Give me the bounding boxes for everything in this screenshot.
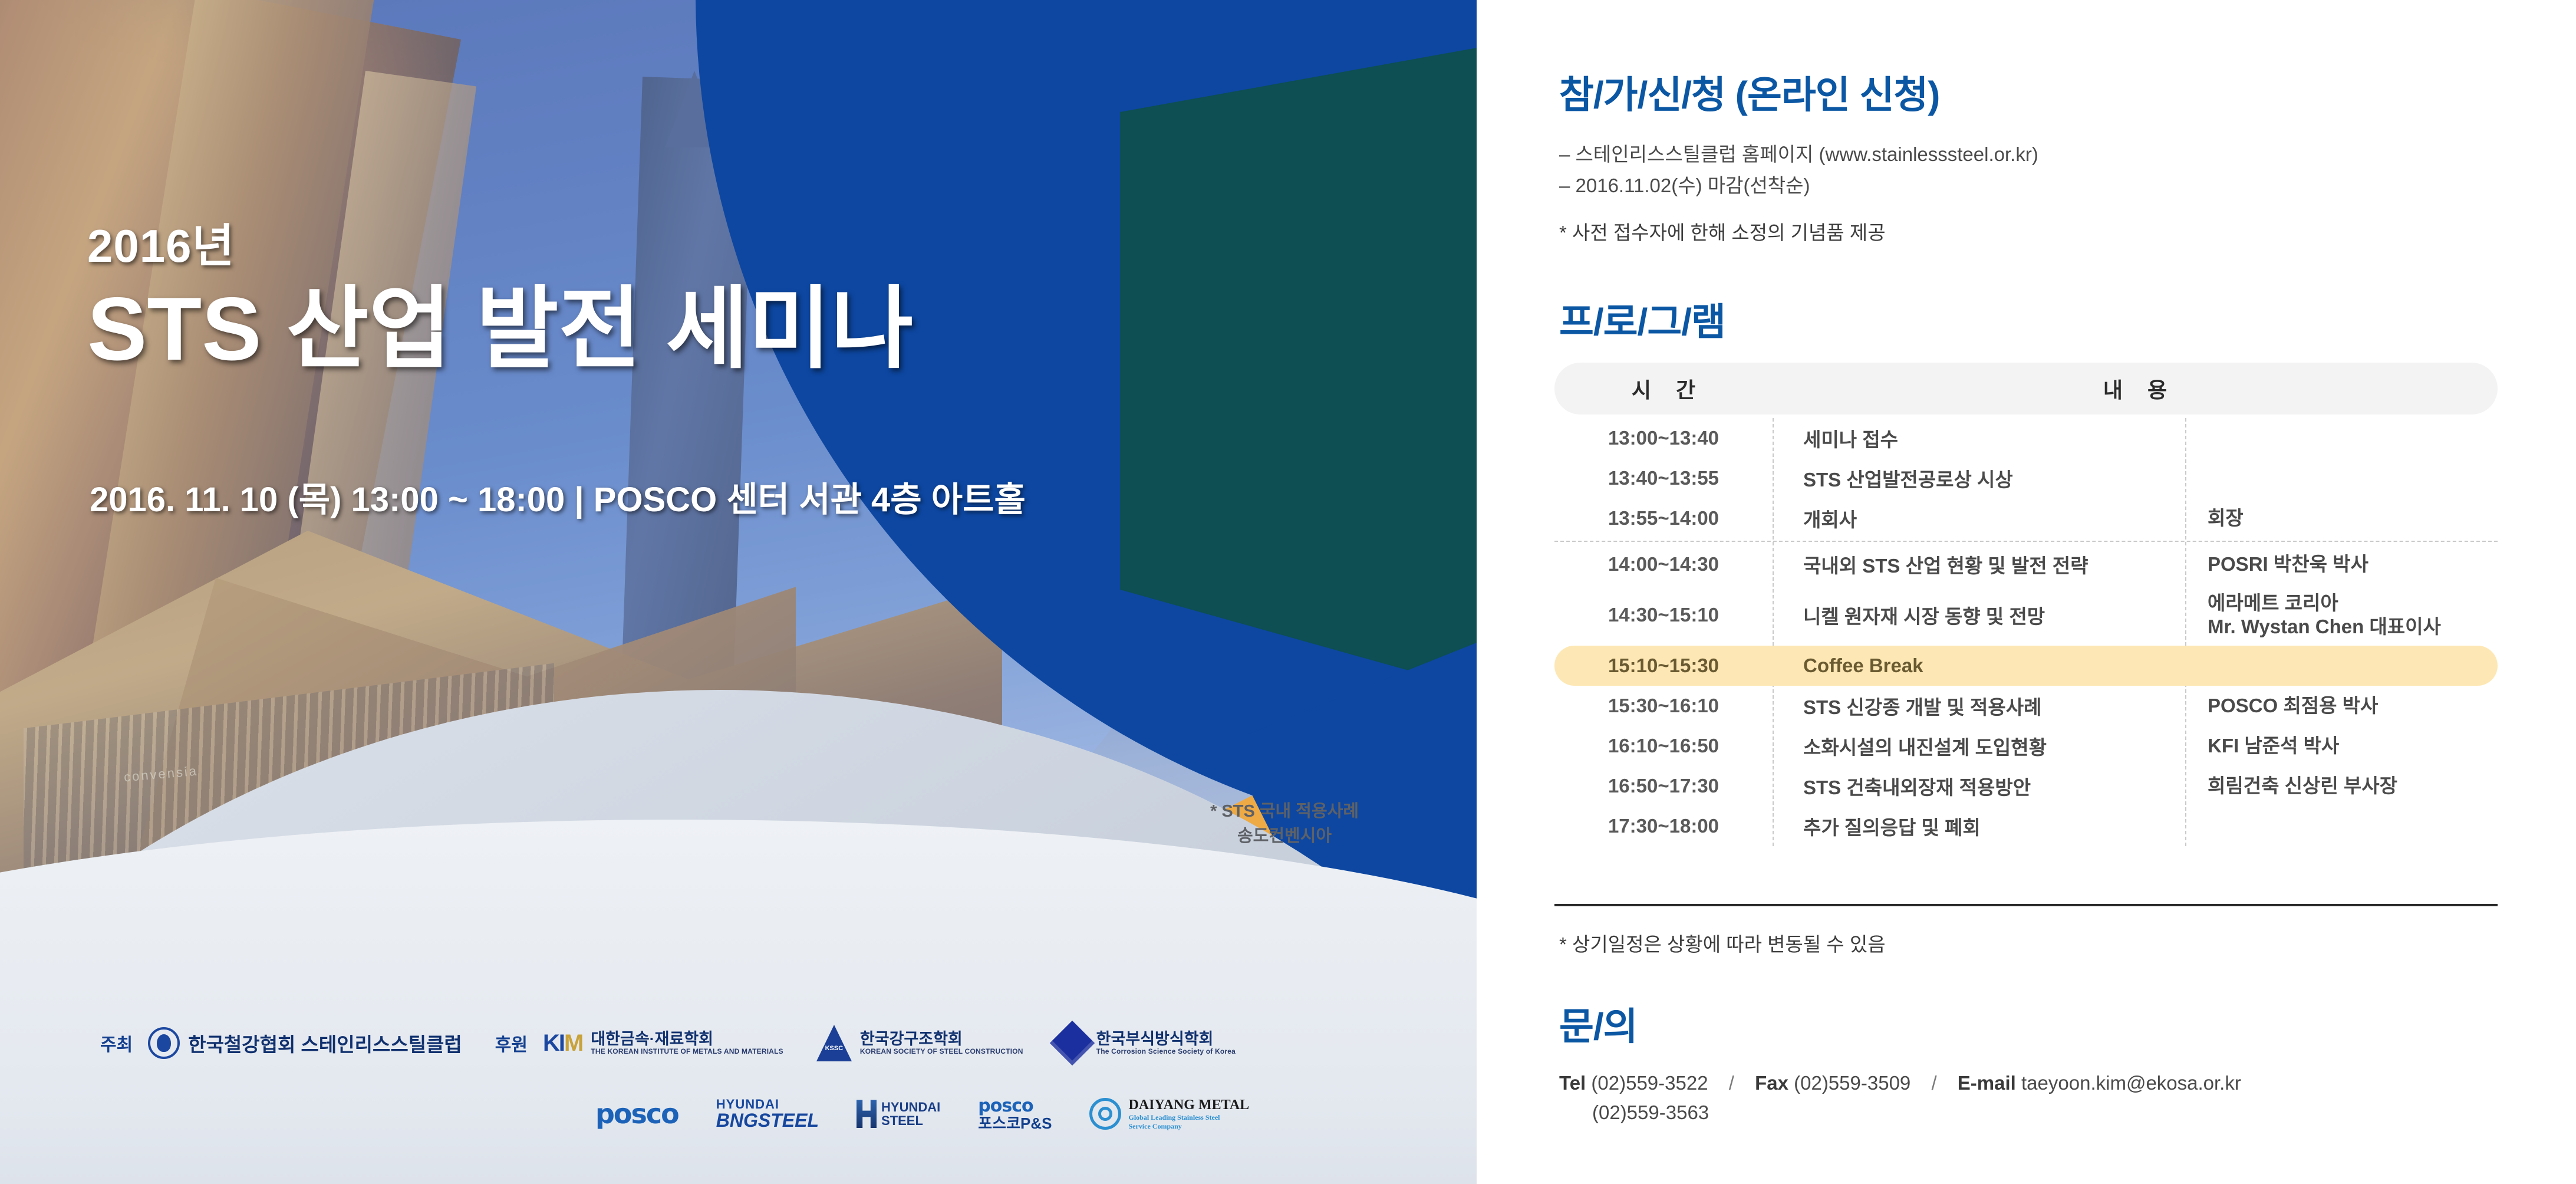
contact-section-heading: 문/의: [1559, 996, 1638, 1051]
posco-pns-logo-bottom: 포스코P&S: [978, 1116, 1052, 1132]
seminar-poster: convensia 2016년 STS 산업 발전 세미나 2016. 11. …: [0, 0, 2576, 1184]
table-row: 13:00~13:40세미나 접수: [1554, 418, 2498, 458]
daiyang-sub-2: Service Company: [1128, 1122, 1249, 1131]
table-row: 15:30~16:10STS 신강종 개발 및 적용사례POSCO 최점용 박사: [1554, 686, 2498, 726]
cell-time: 13:55~14:00: [1554, 507, 1773, 529]
table-row: 17:30~18:00추가 질의응답 및 폐회: [1554, 806, 2498, 846]
daiyang-metal-logo: DAIYANG METAL Global Leading Stainless S…: [1089, 1097, 1249, 1130]
photo-caption: * STS 국내 적용사례 송도컨벤시아: [1210, 799, 1359, 848]
sponsor-row-organizations: 주최 한국철강협회 스테인리스스틸클럽 후원 KIM 대한금속·재료학회 THE…: [100, 1025, 1269, 1061]
sponsor-kim-sub: THE KOREAN INSTITUTE OF METALS AND MATER…: [591, 1048, 783, 1055]
cell-content: 개회사: [1773, 504, 2185, 532]
cell-speaker: POSCO 최점용 박사: [2185, 694, 2498, 718]
apply-note: * 사전 접수자에 한해 소정의 기념품 제공: [1559, 217, 2038, 245]
daiyang-target-icon: [1089, 1098, 1121, 1130]
sponsor-host: 한국철강협회 스테인리스스틸클럽: [148, 1027, 462, 1059]
email-label: E-mail: [1958, 1072, 2016, 1094]
table-row: 14:30~15:10니켈 원자재 시장 동향 및 전망에라메트 코리아Mr. …: [1554, 584, 2498, 646]
cell-speaker: KFI 남준석 박사: [2185, 734, 2498, 758]
contact-section-body: Tel (02)559-3522 / Fax (02)559-3509 / E-…: [1559, 1068, 2241, 1127]
table-row: 14:00~14:30국내외 STS 산업 현황 및 발전 전략POSRI 박찬…: [1554, 544, 2498, 584]
hyundai-steel-logo-text: HYUNDAI STEEL: [881, 1100, 940, 1127]
cell-content: 국내외 STS 산업 현황 및 발전 전략: [1773, 550, 2185, 578]
cell-content: STS 신강종 개발 및 적용사례: [1773, 692, 2185, 720]
hero-heading-group: 2016년 STS 산업 발전 세미나: [87, 209, 913, 379]
column-header-time: 시 간: [1554, 373, 1773, 404]
cell-time: 13:40~13:55: [1554, 467, 1773, 489]
info-panel: 참/가/신/청 (온라인 신청) – 스테인리스스틸클럽 홈페이지 (www.s…: [1477, 0, 2576, 1184]
host-name: 한국철강협회 스테인리스스틸클럽: [188, 1029, 462, 1057]
program-note: * 상기일정은 상황에 따라 변동될 수 있음: [1559, 929, 1886, 957]
cell-time: 15:30~16:10: [1554, 695, 1773, 717]
cell-time: 16:10~16:50: [1554, 735, 1773, 757]
support-label: 후원: [495, 1030, 528, 1056]
hero-year: 2016년: [87, 209, 913, 275]
cell-time: 13:00~13:40: [1554, 427, 1773, 449]
contact-separator-2: /: [1916, 1072, 1952, 1094]
tel-value: (02)559-3522: [1591, 1072, 1708, 1094]
hero-datetime-venue: 2016. 11. 10 (목) 13:00 ~ 18:00 | POSCO 센…: [90, 472, 1026, 521]
sponsor-cssk-name: 한국부식방식학회 The Corrosion Science Society o…: [1096, 1031, 1236, 1055]
cell-content: 추가 질의응답 및 폐회: [1773, 812, 2185, 840]
cell-speaker: POSRI 박찬욱 박사: [2185, 552, 2498, 576]
cell-time: 17:30~18:00: [1554, 815, 1773, 837]
table-row: 13:55~14:00개회사회장: [1554, 498, 2498, 538]
cell-time: 16:50~17:30: [1554, 775, 1773, 797]
photo-caption-line-1: * STS 국내 적용사례: [1210, 799, 1359, 824]
program-table: 시 간 내 용 13:00~13:40세미나 접수13:40~13:55STS …: [1554, 363, 2498, 846]
table-row: 15:10~15:30Coffee Break: [1554, 646, 2498, 686]
cell-content: STS 산업발전공로상 시상: [1773, 464, 2185, 492]
photo-caption-line-2: 송도컨벤시아: [1210, 824, 1359, 848]
program-table-header: 시 간 내 용: [1554, 363, 2498, 415]
cell-speaker: 희림건축 신상린 부사장: [2185, 774, 2498, 798]
cell-content: STS 건축내외장재 적용방안: [1773, 772, 2185, 800]
table-row: 16:50~17:30STS 건축내외장재 적용방안희림건축 신상린 부사장: [1554, 766, 2498, 806]
sponsor-cssk: 한국부식방식학회 The Corrosion Science Society o…: [1056, 1027, 1236, 1059]
hyundai-steel-logo: HYUNDAI STEEL: [857, 1100, 940, 1128]
fax-label: Fax: [1755, 1072, 1788, 1094]
apply-line-homepage[interactable]: – 스테인리스스틸클럽 홈페이지 (www.stainlesssteel.or.…: [1559, 139, 2038, 170]
posco-logo: posco: [595, 1098, 678, 1130]
apply-section-body: – 스테인리스스틸클럽 홈페이지 (www.stainlesssteel.or.…: [1559, 139, 2038, 245]
host-label: 주최: [100, 1030, 133, 1056]
contact-line-primary: Tel (02)559-3522 / Fax (02)559-3509 / E-…: [1559, 1068, 2241, 1098]
hero-visual-panel: convensia 2016년 STS 산업 발전 세미나 2016. 11. …: [0, 0, 1477, 1184]
kssc-logo-icon: [816, 1025, 852, 1061]
contact-separator-1: /: [1714, 1072, 1750, 1094]
table-row: 16:10~16:50소화시설의 내진설계 도입현황KFI 남준석 박사: [1554, 726, 2498, 766]
hyundai-h-icon: [857, 1100, 877, 1128]
sponsor-kssc-name: 한국강구조학회 KOREAN SOCIETY OF STEEL CONSTRUC…: [860, 1031, 1023, 1055]
sponsor-kssc: 한국강구조학회 KOREAN SOCIETY OF STEEL CONSTRUC…: [816, 1025, 1023, 1061]
sponsor-kssc-sub: KOREAN SOCIETY OF STEEL CONSTRUCTION: [860, 1048, 1023, 1055]
cell-time: 14:30~15:10: [1554, 604, 1773, 626]
bng-steel-logo-bottom: BNGSTEEL: [716, 1111, 819, 1130]
sponsor-strip: 주최 한국철강협회 스테인리스스틸클럽 후원 KIM 대한금속·재료학회 THE…: [0, 1002, 1477, 1179]
cell-speaker: 에라메트 코리아Mr. Wystan Chen 대표이사: [2185, 591, 2498, 638]
kim-logo-icon: KIM: [543, 1030, 582, 1057]
sponsor-row-companies: posco HYUNDAI BNGSTEEL HYUNDAI STEEL pos…: [595, 1097, 1249, 1132]
bng-steel-logo: HYUNDAI BNGSTEEL: [716, 1098, 819, 1130]
program-bottom-rule: [1554, 904, 2498, 906]
sponsor-kim-name: 대한금속·재료학회 THE KOREAN INSTITUTE OF METALS…: [591, 1031, 783, 1055]
ksa-emblem-icon: [148, 1027, 180, 1059]
daiyang-sub-1: Global Leading Stainless Steel: [1128, 1113, 1249, 1122]
column-header-content: 내 용: [1773, 373, 2498, 404]
page-title: STS 산업 발전 세미나: [87, 279, 913, 379]
tel-label: Tel: [1559, 1072, 1586, 1094]
contact-line-secondary: (02)559-3563: [1559, 1098, 2241, 1127]
apply-line-deadline: – 2016.11.02(수) 마감(선착순): [1559, 170, 2038, 201]
sponsor-kim: KIM 대한금속·재료학회 THE KOREAN INSTITUTE OF ME…: [543, 1030, 783, 1057]
cssk-logo-icon: [1049, 1021, 1094, 1065]
posco-pns-logo-top: posco: [978, 1097, 1052, 1116]
row-divider: [1554, 541, 2498, 542]
table-row: 13:40~13:55STS 산업발전공로상 시상: [1554, 458, 2498, 498]
bng-steel-logo-top: HYUNDAI: [716, 1098, 819, 1111]
cell-speaker: 회장: [2185, 507, 2498, 530]
cell-content: 세미나 접수: [1773, 424, 2185, 452]
email-value[interactable]: taeyoon.kim@ekosa.or.kr: [2021, 1072, 2241, 1094]
daiyang-metal-logo-text: DAIYANG METAL Global Leading Stainless S…: [1128, 1097, 1249, 1130]
posco-pns-logo: posco 포스코P&S: [978, 1097, 1052, 1132]
program-section-heading: 프/로/그/램: [1559, 292, 1725, 346]
sponsor-cssk-sub: The Corrosion Science Society of Korea: [1096, 1048, 1236, 1055]
cell-time: 14:00~14:30: [1554, 553, 1773, 575]
cell-time: 15:10~15:30: [1554, 655, 1773, 677]
apply-section-heading: 참/가/신/청 (온라인 신청): [1559, 65, 1939, 119]
fax-value: (02)559-3509: [1794, 1072, 1910, 1094]
cell-content: Coffee Break: [1773, 655, 2185, 677]
program-table-body: 13:00~13:40세미나 접수13:40~13:55STS 산업발전공로상 …: [1554, 418, 2498, 846]
cell-content: 니켈 원자재 시장 동향 및 전망: [1773, 601, 2185, 629]
cell-content: 소화시설의 내진설계 도입현황: [1773, 732, 2185, 760]
